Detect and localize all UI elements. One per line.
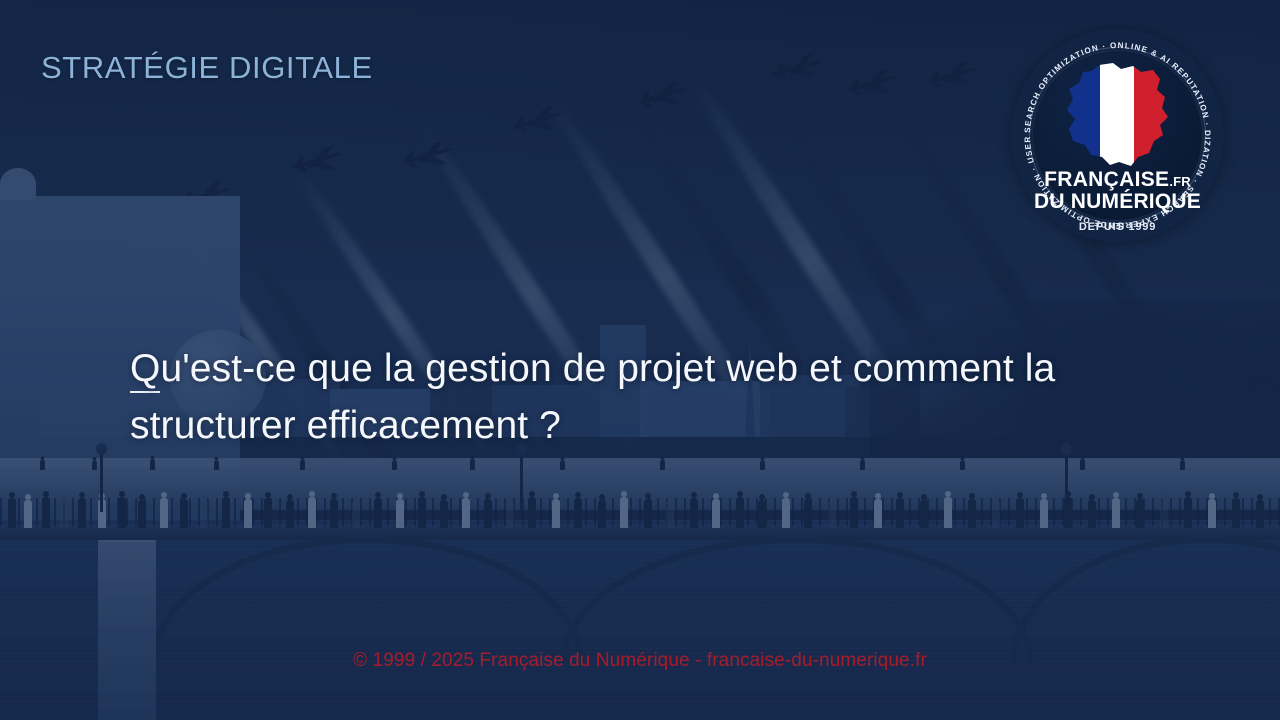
france-map-icon <box>1061 63 1173 167</box>
logo-brand-tld: .FR <box>1169 174 1191 189</box>
brand-logo[interactable]: ARTIFICIAL INTELLIGENCE SEARCH OPTIMIZAT… <box>1011 29 1224 242</box>
copyright-notice: © 1999 / 2025 Française du Numérique - f… <box>0 650 1280 672</box>
page-title: Qu'est-ce que la gestion de projet web e… <box>130 340 1160 454</box>
logo-brand-name: FRANÇAISE <box>1044 168 1169 191</box>
logo-brand-line-2: DU NUMÉRIQUE <box>1011 190 1224 214</box>
kicker-label: STRATÉGIE DIGITALE <box>41 50 373 86</box>
logo-tagline: DEPUIS 1999 <box>1011 221 1224 233</box>
headline-rest: u'est-ce que la gestion de projet web et… <box>130 347 1055 447</box>
presentation-slide: STRATÉGIE DIGITALE Qu'est-ce que la gest… <box>0 0 1280 720</box>
headline-first-letter: Q <box>130 347 160 393</box>
